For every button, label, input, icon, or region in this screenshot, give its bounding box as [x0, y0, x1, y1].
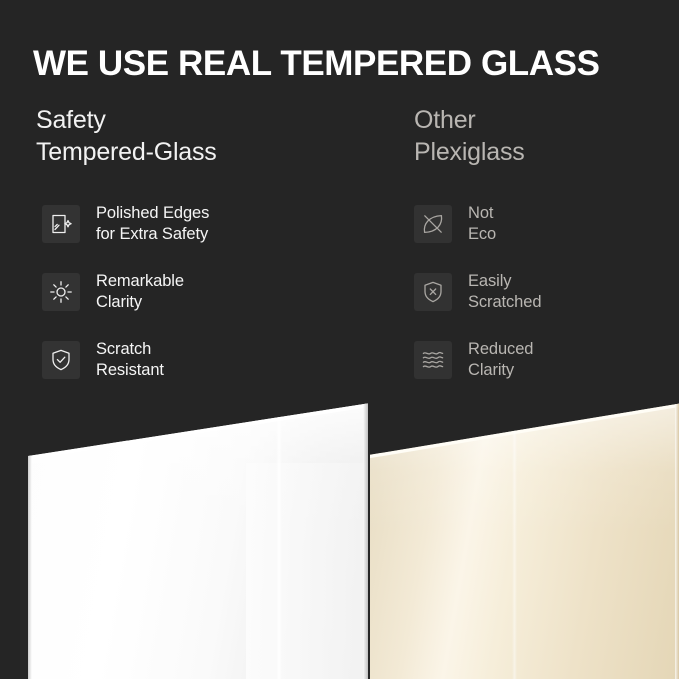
tempered-glass-panel-inner-reflection: [246, 463, 368, 679]
feature-label-scratch-resistant: Scratch Resistant: [96, 339, 164, 381]
feature-line1: Not: [468, 204, 493, 222]
column-heading-tempered-glass: Safety Tempered-Glass: [36, 104, 376, 168]
feature-line2: Resistant: [96, 360, 164, 381]
shield-check-icon: [42, 341, 80, 379]
feature-line2: Clarity: [96, 292, 184, 313]
polished-edge-sparkle-icon: [42, 205, 80, 243]
column-heading-line1: Other: [414, 106, 476, 134]
comparison-column-tempered-glass: Safety Tempered-Glass Polished Edges for…: [36, 104, 376, 406]
feature-line1: Polished Edges: [96, 204, 209, 222]
feature-row-scratch-resistant: Scratch Resistant: [42, 338, 376, 382]
tempered-glass-panel-right-edge: [363, 403, 368, 679]
plexiglass-panel-top-edge: [370, 398, 679, 679]
feature-label-not-eco: Not Eco: [468, 203, 496, 245]
tempered-glass-panel-left-edge: [28, 456, 32, 679]
feature-list-tempered-glass: Polished Edges for Extra Safety: [36, 202, 376, 382]
feature-row-polished-edges: Polished Edges for Extra Safety: [42, 202, 376, 246]
feature-row-not-eco: Not Eco: [414, 202, 679, 246]
feature-line1: Easily: [468, 272, 511, 290]
sun-clarity-icon: [42, 273, 80, 311]
feature-label-remarkable-clarity: Remarkable Clarity: [96, 271, 184, 313]
feature-line1: Remarkable: [96, 272, 184, 290]
column-heading-plexiglass: Other Plexiglass: [414, 104, 679, 168]
product-photo: [0, 398, 679, 679]
shield-x-icon: [414, 273, 452, 311]
product-comparison-infographic: WE USE REAL TEMPERED GLASS Safety Temper…: [0, 0, 679, 679]
page-title: WE USE REAL TEMPERED GLASS: [33, 43, 663, 85]
feature-line2: for Extra Safety: [96, 224, 209, 245]
feature-line1: Reduced: [468, 340, 533, 358]
plexiglass-panel: [370, 398, 679, 679]
plexiglass-panel-right-edge: [675, 404, 679, 679]
feature-row-remarkable-clarity: Remarkable Clarity: [42, 270, 376, 314]
feature-row-easily-scratched: Easily Scratched: [414, 270, 679, 314]
column-heading-line2: Plexiglass: [414, 136, 679, 168]
feature-label-polished-edges: Polished Edges for Extra Safety: [96, 203, 209, 245]
feature-row-reduced-clarity: Reduced Clarity: [414, 338, 679, 382]
column-heading-line1: Safety: [36, 106, 106, 134]
leaf-crossed-out-icon: [414, 205, 452, 243]
feature-list-plexiglass: Not Eco Easily Scratched: [414, 202, 679, 382]
tempered-glass-panel: [28, 402, 368, 679]
plexiglass-panel-reflection: [512, 398, 517, 679]
comparison-column-plexiglass: Other Plexiglass Not Eco: [414, 104, 679, 406]
feature-line2: Eco: [468, 224, 496, 245]
feature-line2: Scratched: [468, 292, 541, 313]
feature-line1: Scratch: [96, 340, 151, 358]
feature-label-easily-scratched: Easily Scratched: [468, 271, 541, 313]
column-heading-line2: Tempered-Glass: [36, 136, 376, 168]
wavy-lines-icon: [414, 341, 452, 379]
tempered-glass-panel-reflection: [276, 402, 282, 679]
feature-label-reduced-clarity: Reduced Clarity: [468, 339, 533, 381]
feature-line2: Clarity: [468, 360, 533, 381]
